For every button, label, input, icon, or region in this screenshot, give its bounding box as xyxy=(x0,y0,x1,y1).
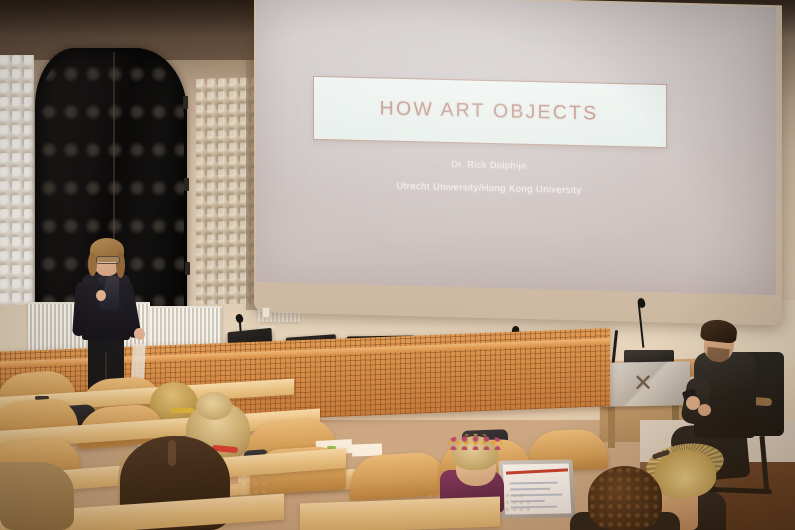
seated-man-hand xyxy=(698,404,711,416)
x-cutout-icon: ✕ xyxy=(632,373,654,395)
speaker-glasses xyxy=(96,256,120,264)
hair-flowers xyxy=(448,434,502,450)
lectern-leg xyxy=(608,400,615,448)
speaker-hair-side xyxy=(88,252,97,276)
speaker-hand-holding-mic xyxy=(96,290,106,301)
projection-screen-surface xyxy=(256,0,776,295)
lecture-hall-scene: HOW ART OBJECTS Dr. Rick Dolphijn Utrech… xyxy=(0,0,795,530)
door-hinge-icon xyxy=(183,96,188,109)
textured-wall-panel-left xyxy=(0,55,34,305)
door-hinge-icon xyxy=(185,262,190,275)
slide-title: HOW ART OBJECTS xyxy=(313,76,665,146)
hair-bun xyxy=(196,392,232,420)
yellow-glasses xyxy=(170,408,194,413)
wall-outlet[interactable] xyxy=(262,307,270,318)
desk-row xyxy=(300,497,500,530)
speaker-papers xyxy=(131,344,146,381)
audience-person-hair xyxy=(588,466,662,530)
audience-person-hair xyxy=(0,462,74,530)
hair-part xyxy=(168,440,176,466)
door-hinge-icon xyxy=(184,178,189,191)
